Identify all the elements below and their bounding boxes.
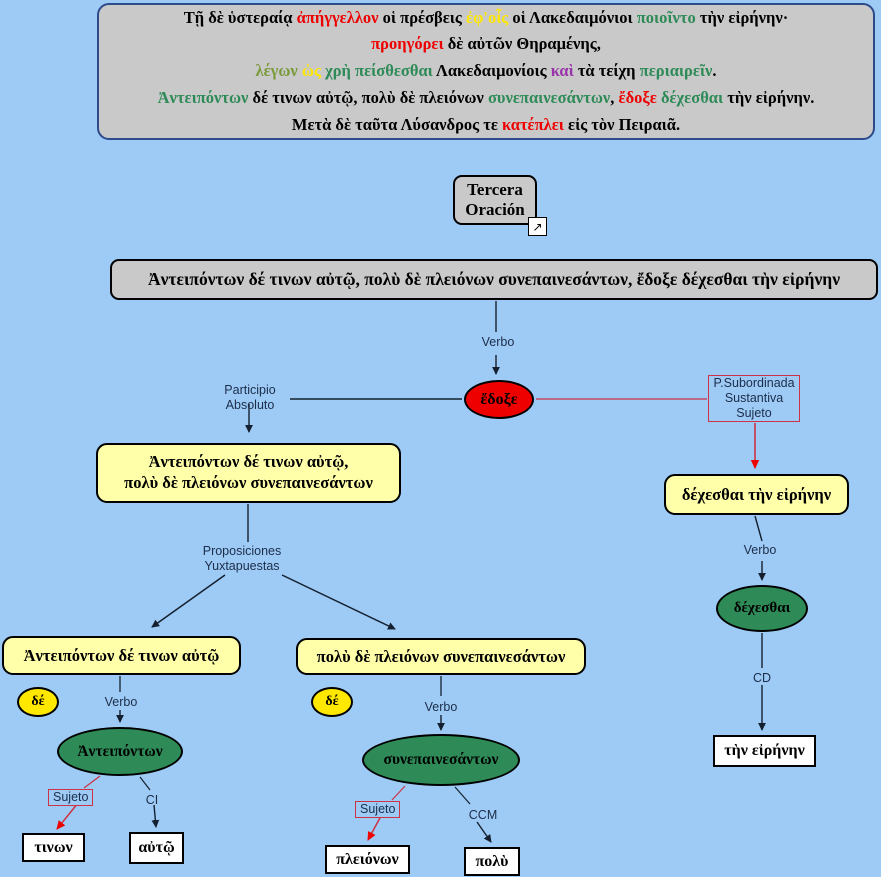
edge-label-proposiciones-yuxtapuestas: Proposiciones Yuxtapuestas [192, 544, 292, 575]
subordinada-line2: Sustantiva [713, 391, 794, 406]
main-sentence-box[interactable]: Ἀντειπόντων δέ τινων αὐτῷ, πολὺ δὲ πλειό… [110, 259, 878, 300]
edge-label-ci: CI [139, 793, 165, 808]
edge-label-verbo-left: Verbo [96, 695, 146, 710]
subject-node-tinon[interactable]: τινων [22, 833, 85, 862]
passage-line-5: Μετὰ δὲ ταῦτα Λύσανδρος τε κατέπλει εἰς … [292, 112, 680, 139]
passage-segment: ἀπήγγελλον [297, 8, 379, 27]
diagram-canvas: Τῇ δὲ ὑστεραίᾳ ἀπήγγελλον οἱ πρέσβεις ἐφ… [0, 0, 881, 877]
passage-segment: περιαιρεῖν [640, 61, 713, 80]
ccm-node-pollu[interactable]: πολὺ [464, 847, 520, 876]
left-proposition-box[interactable]: Ἀντειπόντων δέ τινων αὐτῷ [2, 636, 241, 675]
passage-segment: τὴν εἰρήνην. [723, 88, 814, 107]
participio-absoluto-line2: πολὺ δὲ πλειόνων συνεπαινεσάντων [124, 473, 373, 494]
subordinada-line3: Sujeto [713, 406, 794, 421]
passage-segment: ποιοῖντο [637, 8, 696, 27]
conjunction-node-de-left[interactable]: δέ [17, 687, 59, 717]
verb-node-anteiponton[interactable]: Ἀντειπόντων [57, 727, 183, 776]
passage-line-2: προηγόρει δὲ αὐτῶν Θηραμένης, [371, 31, 601, 58]
passage-segment: λέγων [255, 61, 301, 80]
verb-node-synepainesanton[interactable]: συνεπαινεσάντων [362, 734, 520, 786]
edge-label-verbo-dexesthai: Verbo [735, 543, 785, 558]
passage-line-1: Τῇ δὲ ὑστεραίᾳ ἀπήγγελλον οἱ πρέσβεις ἐφ… [184, 5, 789, 32]
passage-segment: δέχεσθαι [657, 88, 723, 107]
passage-segment: . [712, 61, 716, 80]
passage-segment: τὰ τείχη [574, 61, 640, 80]
passage-segment: Μετὰ δὲ ταῦτα Λύσανδρος τε [292, 115, 502, 134]
passage-segment: οἱ πρέσβεις [379, 8, 466, 27]
passage-segment: τὴν εἰρήνην· [696, 8, 789, 27]
passage-segment: ἔδοξε [619, 88, 657, 107]
right-proposition-box[interactable]: πολὺ δὲ πλειόνων συνεπαινεσάντων [296, 638, 586, 675]
passage-segment: συνεπαινεσάντων [488, 88, 610, 107]
edge-label-verbo-main: Verbo [473, 335, 523, 350]
edge-label-cd: CD [747, 671, 777, 686]
passage-segment: καὶ [551, 61, 574, 80]
tercera-oracion-line2: Oración [465, 200, 525, 220]
passage-line-3: λέγων ὡς χρὴ πείσθεσθαι Λακεδαιμονίοις κ… [255, 58, 716, 85]
passage-segment: δέ τινων αὐτῷ, πολὺ δὲ πλειόνων [248, 88, 488, 107]
verb-node-edoxe[interactable]: ἔδοξε [464, 380, 534, 419]
tercera-oracion-box[interactable]: Tercera Oración [453, 175, 537, 225]
object-node-ten-eirenen[interactable]: τὴν εἰρήνην [713, 735, 816, 767]
passage-segment: οἱ Λακεδαιμόνιοι [508, 8, 636, 27]
edge-label-ccm: CCM [465, 808, 501, 823]
participio-absoluto-box[interactable]: Ἀντειπόντων δέ τινων αὐτῷ, πολὺ δὲ πλειό… [96, 443, 401, 503]
p-subordinada-sustantiva-sujeto-box[interactable]: P.Subordinada Sustantiva Sujeto [708, 375, 800, 422]
subordinada-line1: P.Subordinada [713, 376, 794, 391]
edge-label-participio-absoluto: Participio Absoluto [213, 383, 287, 414]
participio-absoluto-line1: Ἀντειπόντων δέ τινων αὐτῷ, [149, 452, 349, 473]
passage-segment: χρὴ πείσθεσθαι [321, 61, 433, 80]
passage-segment: ἐφ'οἷς [466, 8, 508, 27]
verb-node-dexesthai[interactable]: δέχεσθαι [716, 585, 808, 632]
edge-label-verbo-right: Verbo [416, 700, 466, 715]
passage-segment: δὲ αὐτῶν Θηραμένης, [444, 34, 601, 53]
resize-handle-icon[interactable]: ↗ [528, 217, 547, 236]
passage-segment: Ἀντειπόντων [158, 88, 249, 107]
passage-segment: , [610, 88, 618, 107]
ci-node-auto[interactable]: αὐτῷ [129, 832, 184, 864]
passage-segment: Λακεδαιμονίοις [433, 61, 551, 80]
passage-segment: εἰς τὸν Πειραιᾶ. [564, 115, 680, 134]
edge-label-sujeto-left[interactable]: Sujeto [48, 789, 93, 806]
tercera-oracion-line1: Tercera [467, 180, 523, 200]
source-passage-box: Τῇ δὲ ὑστεραίᾳ ἀπήγγελλον οἱ πρέσβεις ἐφ… [97, 3, 875, 140]
edge-label-sujeto-right[interactable]: Sujeto [355, 801, 400, 818]
passage-segment: κατέπλει [502, 115, 564, 134]
conjunction-node-de-right[interactable]: δέ [311, 687, 353, 717]
passage-segment: ὡς [302, 61, 321, 80]
dexesthai-clause-box[interactable]: δέχεσθαι τὴν εἰρήνην [664, 474, 849, 515]
passage-segment: προηγόρει [371, 34, 443, 53]
subject-node-pleionon[interactable]: πλειόνων [325, 845, 410, 874]
passage-segment: Τῇ δὲ ὑστεραίᾳ [184, 8, 297, 27]
passage-line-4: Ἀντειπόντων δέ τινων αὐτῷ, πολὺ δὲ πλειό… [158, 85, 815, 112]
